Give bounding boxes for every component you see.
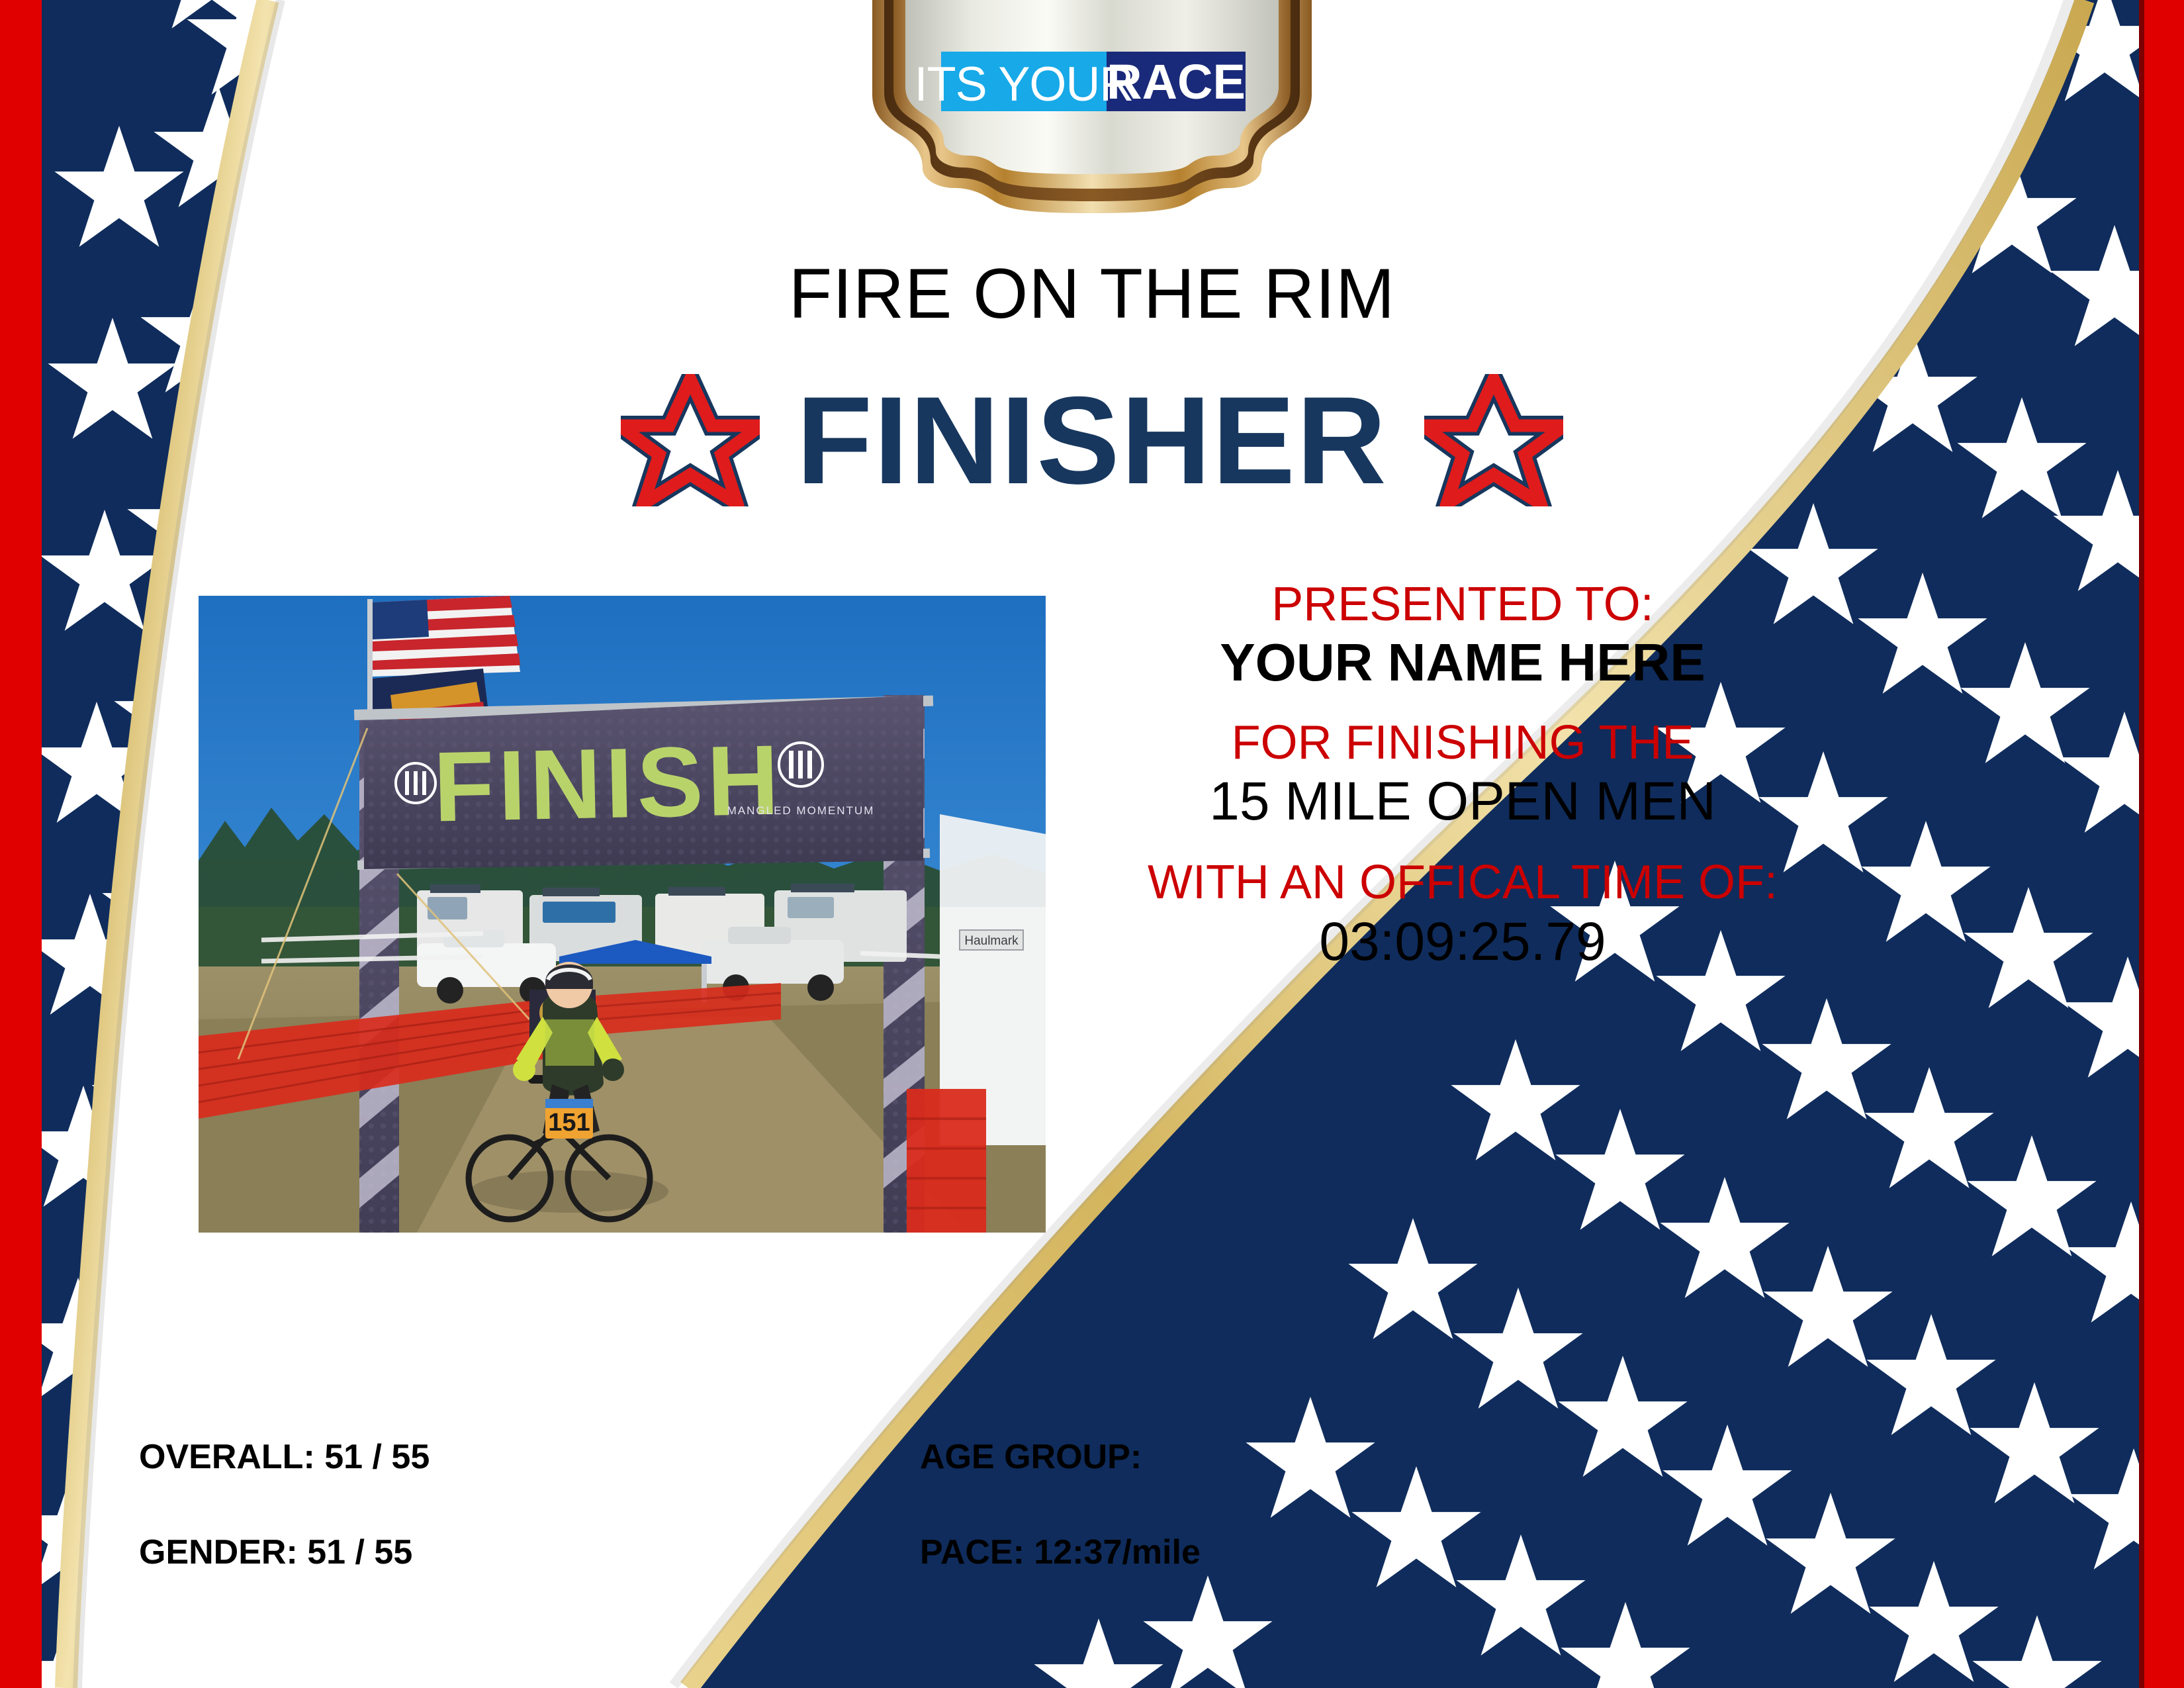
logo-its-your-text: ITS YOUR [915,57,1134,111]
stat-overall: OVERALL: 51 / 55 [139,1440,920,1474]
stat-age-group: AGE GROUP: [920,1440,1383,1474]
event-category: 15 MILE OPEN MEN [1072,773,1853,831]
bib-number-text: 151 [548,1109,590,1137]
finish-line-photo: FINISH MANGLED MOMENTUM [199,596,1046,1233]
finish-banner: FINISH MANGLED MOMENTUM [364,695,923,869]
results-stats-block: OVERALL: 51 / 55 AGE GROUP: GENDER: 51 /… [139,1440,1396,1570]
official-time-value: 03:09:25.79 [1072,914,1853,971]
trailer-label-text: Haulmark [964,934,1019,948]
certificate: ITS YOUR RACE FIRE ON THE RIM FINISHER [0,0,2184,1688]
right-stripe-edge [2139,0,2144,1688]
for-finishing-label: FOR FINISHING THE [1072,718,1853,768]
stats-row-1: OVERALL: 51 / 55 AGE GROUP: [139,1440,1396,1474]
presented-to-label: PRESENTED TO: [1072,579,1853,630]
star-right-icon [1424,374,1563,506]
stats-row-2: GENDER: 51 / 55 PACE: 12:37/mile [139,1535,1396,1570]
finisher-word: FINISHER [796,378,1387,502]
us-flag [373,596,520,677]
right-red-stripe [2144,0,2184,1688]
award-text-block: PRESENTED TO: YOUR NAME HERE FOR FINISHI… [1072,579,1853,971]
recipient-name: YOUR NAME HERE [1072,635,1853,691]
stat-pace: PACE: 12:37/mile [920,1535,1383,1570]
its-your-race-badge: ITS YOUR RACE [867,0,1317,213]
sponsor-name-text: MANGLED MOMENTUM [727,804,875,817]
left-red-stripe [0,0,42,1688]
logo-race-text: RACE [1107,54,1246,109]
finish-banner-text: FINISH [432,724,784,843]
stat-gender: GENDER: 51 / 55 [139,1535,920,1570]
finisher-heading-row: FINISHER [0,361,2184,520]
star-left-icon [621,374,760,506]
official-time-label: WITH AN OFFICAL TIME OF: [1072,857,1853,908]
race-title: FIRE ON THE RIM [0,258,2184,329]
